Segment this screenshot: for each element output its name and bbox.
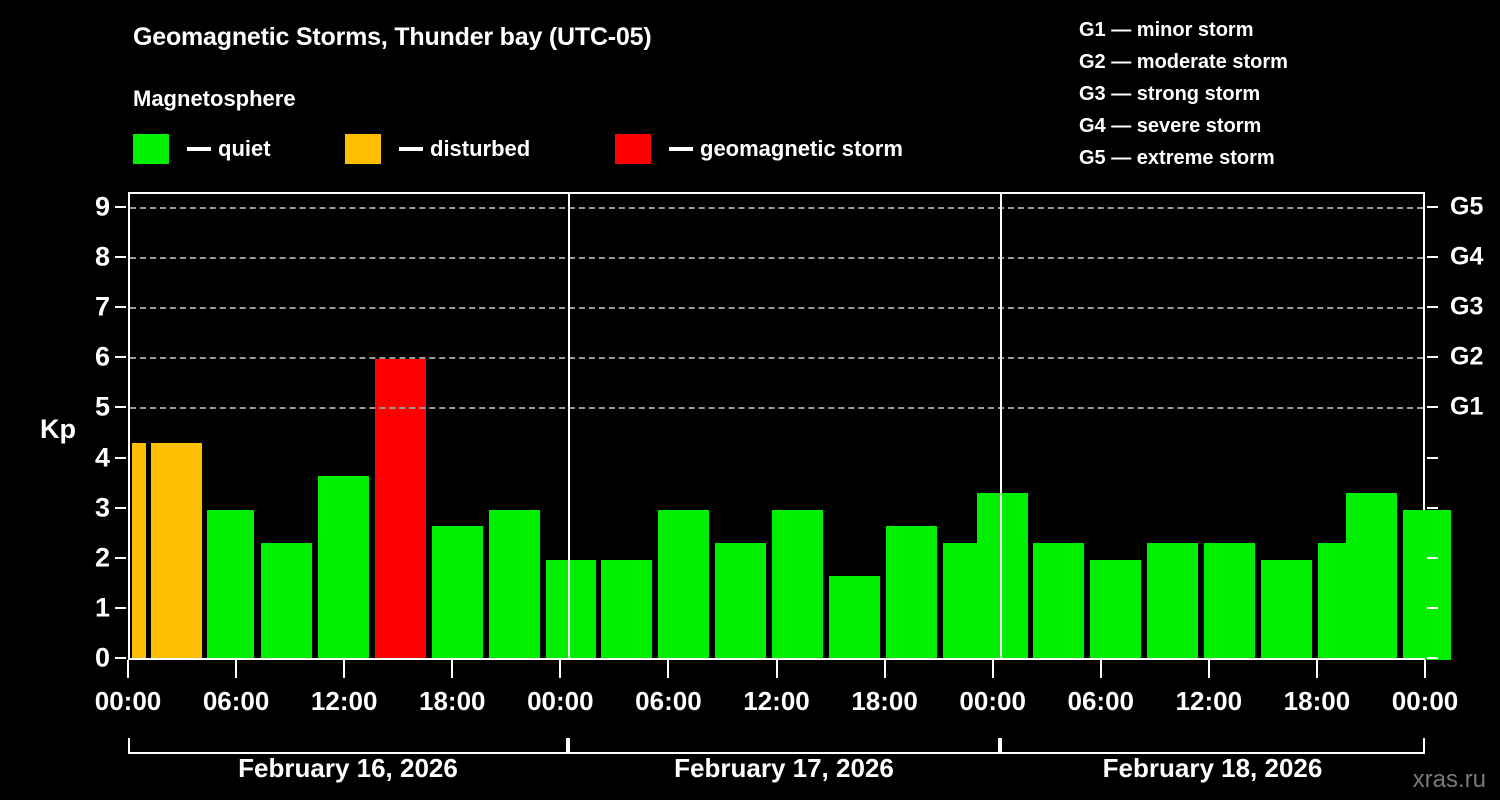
bar[interactable] — [772, 510, 823, 660]
g-scale-line-1: G1 — minor storm — [1079, 14, 1288, 46]
legend-swatch-geomagnetic-storm — [615, 134, 651, 164]
bar[interactable] — [207, 510, 254, 660]
x-tick-4 — [559, 660, 561, 678]
x-axis-label-9: 06:00 — [1068, 686, 1135, 717]
bar[interactable] — [1033, 543, 1084, 660]
y-tick-right-2 — [1427, 557, 1438, 559]
date-label-2: February 17, 2026 — [674, 753, 894, 784]
y-tick-right-4 — [1427, 457, 1438, 459]
y-axis-label-4: 4 — [70, 442, 110, 473]
legend-item-geomagnetic-storm: geomagnetic storm — [615, 132, 903, 166]
y-axis-label-8: 8 — [70, 242, 110, 273]
g-axis-label-G1: G1 — [1450, 393, 1483, 422]
gridline-kp-8 — [130, 257, 1423, 259]
bar[interactable] — [151, 443, 202, 660]
bar[interactable] — [318, 476, 369, 660]
bar-series — [130, 194, 1423, 660]
g-axis-label-G3: G3 — [1450, 293, 1483, 322]
plot-area — [128, 192, 1425, 660]
legend-dash-icon — [399, 147, 423, 151]
y-axis-label-6: 6 — [70, 342, 110, 373]
x-axis-label-12: 00:00 — [1392, 686, 1459, 717]
bar[interactable] — [715, 543, 766, 660]
g-scale-line-3: G3 — strong storm — [1079, 78, 1288, 110]
y-axis-label-3: 3 — [70, 492, 110, 523]
date-bracket-3 — [1000, 738, 1425, 754]
gridline-kp-9 — [130, 207, 1423, 209]
y-axis-label-0: 0 — [70, 643, 110, 674]
bar[interactable] — [1346, 493, 1397, 660]
y-tick-2 — [115, 557, 126, 559]
date-label-3: February 18, 2026 — [1103, 753, 1323, 784]
bar[interactable] — [432, 526, 483, 660]
bar[interactable] — [1204, 543, 1255, 660]
bar[interactable] — [546, 560, 596, 660]
legend-label-quiet: quiet — [218, 138, 271, 160]
y-tick-right-9 — [1427, 206, 1438, 208]
x-tick-1 — [235, 660, 237, 678]
bracket-right-cap — [1423, 738, 1425, 754]
x-tick-0 — [127, 660, 129, 678]
bar[interactable] — [829, 576, 880, 660]
legend-label-disturbed: disturbed — [430, 138, 530, 160]
g-axis-label-G2: G2 — [1450, 343, 1483, 372]
x-axis-label-2: 12:00 — [311, 686, 378, 717]
legend-item-disturbed: disturbed — [345, 132, 530, 166]
legend-item-quiet: quiet — [133, 132, 271, 166]
y-tick-9 — [115, 206, 126, 208]
legend-dash-icon — [187, 147, 211, 151]
y-tick-5 — [115, 406, 126, 408]
y-axis-label-7: 7 — [70, 292, 110, 323]
bar[interactable] — [1261, 560, 1312, 660]
y-tick-1 — [115, 607, 126, 609]
g-axis-label-G4: G4 — [1450, 243, 1483, 272]
x-axis-label-4: 00:00 — [527, 686, 594, 717]
legend-swatch-disturbed — [345, 134, 381, 164]
x-axis-label-1: 06:00 — [203, 686, 270, 717]
x-axis-label-7: 18:00 — [851, 686, 918, 717]
x-tick-12 — [1424, 660, 1426, 678]
bar[interactable] — [977, 493, 1028, 660]
g-axis-label-G5: G5 — [1450, 193, 1483, 222]
x-tick-9 — [1100, 660, 1102, 678]
y-tick-right-5 — [1427, 406, 1438, 408]
gridline-kp-7 — [130, 307, 1423, 309]
y-tick-right-8 — [1427, 256, 1438, 258]
g-scale-line-2: G2 — moderate storm — [1079, 46, 1288, 78]
day-separator-2 — [1000, 194, 1002, 660]
y-axis-label-1: 1 — [70, 592, 110, 623]
bar[interactable] — [261, 543, 312, 660]
y-tick-4 — [115, 457, 126, 459]
y-tick-right-1 — [1427, 607, 1438, 609]
x-tick-5 — [667, 660, 669, 678]
x-axis-label-5: 06:00 — [635, 686, 702, 717]
day-separator-1 — [568, 194, 570, 660]
bar[interactable] — [601, 560, 652, 660]
date-bracket-2 — [568, 738, 1000, 754]
y-tick-right-7 — [1427, 306, 1438, 308]
watermark: xras.ru — [1413, 766, 1486, 794]
g-scale-legend: G1 — minor stormG2 — moderate stormG3 — … — [1079, 14, 1288, 174]
gridline-kp-5 — [130, 407, 1423, 409]
y-tick-right-0 — [1427, 657, 1438, 659]
x-tick-2 — [343, 660, 345, 678]
bar[interactable] — [489, 510, 540, 660]
bar[interactable] — [886, 526, 937, 660]
x-tick-7 — [884, 660, 886, 678]
bar[interactable] — [1147, 543, 1198, 660]
y-tick-3 — [115, 507, 126, 509]
y-tick-right-3 — [1427, 507, 1438, 509]
x-tick-10 — [1208, 660, 1210, 678]
chart-root: Geomagnetic Storms, Thunder bay (UTC-05)… — [0, 0, 1500, 800]
x-axis-label-3: 18:00 — [419, 686, 486, 717]
y-axis-title: Kp — [40, 414, 76, 445]
legend-swatch-quiet — [133, 134, 169, 164]
page-title: Geomagnetic Storms, Thunder bay (UTC-05) — [133, 23, 651, 52]
x-tick-8 — [992, 660, 994, 678]
y-tick-0 — [115, 657, 126, 659]
x-axis-label-6: 12:00 — [743, 686, 810, 717]
date-label-1: February 16, 2026 — [238, 753, 458, 784]
legend-dash-icon — [669, 147, 693, 151]
bar[interactable] — [1090, 560, 1141, 660]
x-axis-label-0: 00:00 — [95, 686, 162, 717]
bar[interactable] — [658, 510, 709, 660]
x-tick-3 — [451, 660, 453, 678]
gridline-kp-6 — [130, 357, 1423, 359]
y-axis-label-5: 5 — [70, 392, 110, 423]
legend-label-geomagnetic-storm: geomagnetic storm — [700, 138, 903, 160]
y-tick-8 — [115, 256, 126, 258]
bar[interactable] — [1403, 510, 1451, 660]
x-axis-label-8: 00:00 — [959, 686, 1026, 717]
g-scale-line-5: G5 — extreme storm — [1079, 142, 1288, 174]
y-axis-label-9: 9 — [70, 192, 110, 223]
g-scale-line-4: G4 — severe storm — [1079, 110, 1288, 142]
x-axis-label-11: 18:00 — [1284, 686, 1351, 717]
y-axis-label-2: 2 — [70, 542, 110, 573]
bar[interactable] — [375, 359, 426, 660]
x-tick-6 — [776, 660, 778, 678]
bar[interactable] — [132, 443, 146, 660]
y-tick-right-6 — [1427, 356, 1438, 358]
date-bracket-1 — [128, 738, 568, 754]
chart-subtitle: Magnetosphere — [133, 86, 296, 112]
y-tick-6 — [115, 356, 126, 358]
x-axis-label-10: 12:00 — [1176, 686, 1243, 717]
y-tick-7 — [115, 306, 126, 308]
x-tick-11 — [1316, 660, 1318, 678]
